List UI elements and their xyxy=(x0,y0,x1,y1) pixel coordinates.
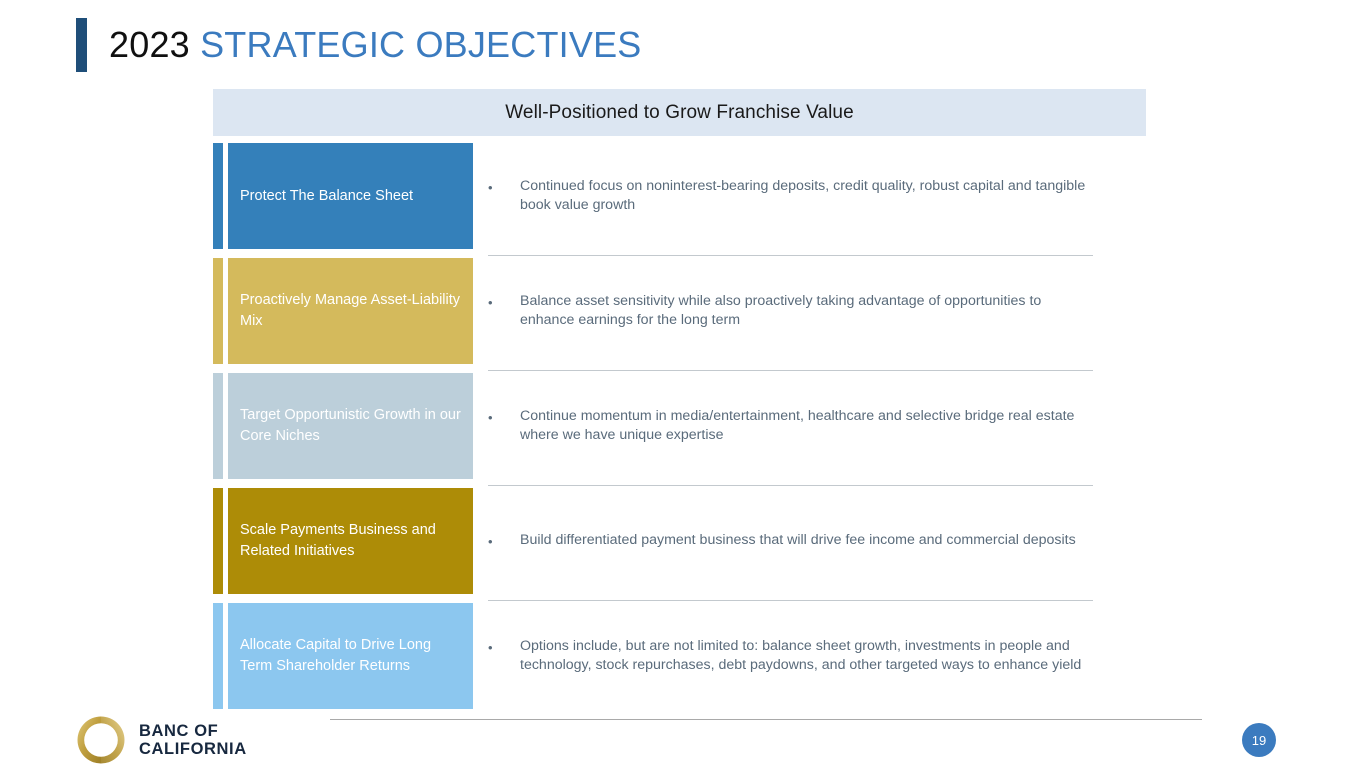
row-divider xyxy=(488,600,1093,601)
bullet-point-icon: • xyxy=(488,531,520,551)
brand-logo: BANC OF CALIFORNIA xyxy=(74,713,247,767)
objective-detail: •Continue momentum in media/entertainmen… xyxy=(488,373,1094,479)
bullet-point-icon: • xyxy=(488,407,520,427)
objective-detail-text: Continued focus on noninterest-bearing d… xyxy=(520,177,1094,215)
bullet-point-icon: • xyxy=(488,292,520,312)
objective-label: Scale Payments Business and Related Init… xyxy=(240,520,461,562)
title-year: 2023 xyxy=(109,24,190,65)
objective-label-block[interactable]: Proactively Manage Asset-Liability Mix xyxy=(228,258,473,364)
objective-detail-text: Continue momentum in media/entertainment… xyxy=(520,407,1094,445)
objective-detail: •Continued focus on noninterest-bearing … xyxy=(488,143,1094,249)
page-number: 19 xyxy=(1252,733,1266,748)
bullet-point-icon: • xyxy=(488,637,520,657)
page-title: 2023 STRATEGIC OBJECTIVES xyxy=(109,25,642,65)
objective-row: Protect The Balance Sheet•Continued focu… xyxy=(0,143,1365,249)
footer-divider xyxy=(330,719,1202,720)
row-divider xyxy=(488,255,1093,256)
objective-label-block[interactable]: Target Opportunistic Growth in our Core … xyxy=(228,373,473,479)
objective-row: Allocate Capital to Drive Long Term Shar… xyxy=(0,603,1365,709)
row-divider xyxy=(488,370,1093,371)
objective-accent-bar xyxy=(213,373,223,479)
objective-label: Allocate Capital to Drive Long Term Shar… xyxy=(240,635,461,677)
banc-of-california-ring-icon xyxy=(74,713,128,767)
objective-label-block[interactable]: Allocate Capital to Drive Long Term Shar… xyxy=(228,603,473,709)
slide-title: 2023 STRATEGIC OBJECTIVES xyxy=(76,18,642,72)
page-number-badge: 19 xyxy=(1242,723,1276,757)
title-main-text: STRATEGIC OBJECTIVES xyxy=(200,24,641,65)
objective-accent-bar xyxy=(213,603,223,709)
objective-detail-text: Build differentiated payment business th… xyxy=(520,531,1094,550)
objective-detail: •Balance asset sensitivity while also pr… xyxy=(488,258,1094,364)
banner-text: Well-Positioned to Grow Franchise Value xyxy=(505,102,854,124)
objective-label: Protect The Balance Sheet xyxy=(240,186,413,207)
objective-label: Target Opportunistic Growth in our Core … xyxy=(240,405,461,447)
objective-accent-bar xyxy=(213,258,223,364)
title-accent-bar xyxy=(76,18,87,72)
brand-line-2: CALIFORNIA xyxy=(139,740,247,759)
row-divider xyxy=(488,485,1093,486)
objective-row: Scale Payments Business and Related Init… xyxy=(0,488,1365,594)
brand-name: BANC OF CALIFORNIA xyxy=(139,722,247,759)
objective-label-block[interactable]: Protect The Balance Sheet xyxy=(228,143,473,249)
objective-detail: •Options include, but are not limited to… xyxy=(488,603,1094,709)
brand-line-1: BANC OF xyxy=(139,722,247,741)
objective-detail-text: Options include, but are not limited to:… xyxy=(520,637,1094,675)
objective-row: Target Opportunistic Growth in our Core … xyxy=(0,373,1365,479)
objective-label: Proactively Manage Asset-Liability Mix xyxy=(240,290,461,332)
objective-accent-bar xyxy=(213,488,223,594)
objective-row: Proactively Manage Asset-Liability Mix•B… xyxy=(0,258,1365,364)
objective-detail: •Build differentiated payment business t… xyxy=(488,488,1094,594)
objective-detail-text: Balance asset sensitivity while also pro… xyxy=(520,292,1094,330)
objective-label-block[interactable]: Scale Payments Business and Related Init… xyxy=(228,488,473,594)
banner: Well-Positioned to Grow Franchise Value xyxy=(213,89,1146,136)
bullet-point-icon: • xyxy=(488,177,520,197)
objective-accent-bar xyxy=(213,143,223,249)
